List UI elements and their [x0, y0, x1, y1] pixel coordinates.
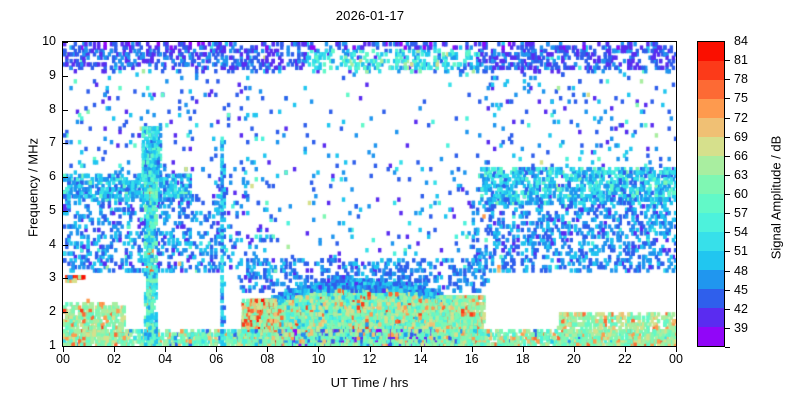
- colorbar-swatch: [698, 308, 724, 327]
- colorbar-tick: [725, 347, 730, 348]
- y-tick: [62, 346, 68, 347]
- colorbar-swatch: [698, 213, 724, 232]
- colorbar-swatch: [698, 270, 724, 289]
- chart-title: 2026-01-17: [0, 8, 740, 23]
- y-tick: [62, 110, 68, 111]
- colorbar-swatch: [698, 175, 724, 194]
- colorbar-tick-label: 54: [734, 225, 764, 239]
- colorbar-tick: [725, 60, 730, 61]
- colorbar-tick: [725, 232, 730, 233]
- colorbar-tick-label: 45: [734, 283, 764, 297]
- colorbar-title: Signal Amplitude / dB: [769, 98, 784, 298]
- y-tick: [62, 76, 68, 77]
- y-tick: [62, 211, 68, 212]
- colorbar-swatch: [698, 156, 724, 175]
- y-tick-label: 9: [26, 68, 56, 82]
- colorbar-tick-label: 57: [734, 206, 764, 220]
- y-tick: [62, 42, 68, 43]
- y-tick: [62, 312, 68, 313]
- colorbar-swatch: [698, 327, 724, 346]
- plot-area: [62, 41, 677, 347]
- colorbar-tick: [725, 98, 730, 99]
- x-tick-label: 18: [503, 352, 543, 366]
- colorbar-swatch: [698, 232, 724, 251]
- colorbar-tick-label: 72: [734, 111, 764, 125]
- colorbar-tick: [725, 290, 730, 291]
- x-tick-label: 08: [247, 352, 287, 366]
- colorbar-swatch: [698, 194, 724, 213]
- x-axis-title: UT Time / hrs: [62, 375, 677, 390]
- colorbar-swatch: [698, 289, 724, 308]
- ionogram-chart: 2026-01-17 00020406081012141618202200 12…: [0, 0, 800, 400]
- x-tick-label: 00: [656, 352, 696, 366]
- x-tick-label: 22: [605, 352, 645, 366]
- colorbar-tick-label: 48: [734, 264, 764, 278]
- y-axis-title: Frequency / MHz: [26, 98, 41, 278]
- y-tick-label: 2: [26, 304, 56, 318]
- colorbar-swatch: [698, 42, 724, 61]
- x-tick-label: 04: [145, 352, 185, 366]
- colorbar-tick-label: 60: [734, 187, 764, 201]
- colorbar-tick: [725, 251, 730, 252]
- colorbar-tick-label: 75: [734, 91, 764, 105]
- colorbar-tick-label: 69: [734, 130, 764, 144]
- colorbar-tick: [725, 213, 730, 214]
- colorbar-tick-label: 78: [734, 72, 764, 86]
- y-tick-label: 10: [26, 34, 56, 48]
- colorbar-tick-label: 81: [734, 53, 764, 67]
- colorbar-tick: [725, 271, 730, 272]
- colorbar-tick-label: 63: [734, 168, 764, 182]
- colorbar-tick-label: 42: [734, 302, 764, 316]
- x-tick-label: 14: [401, 352, 441, 366]
- x-tick-label: 10: [298, 352, 338, 366]
- colorbar-swatch: [698, 61, 724, 80]
- colorbar-tick: [725, 137, 730, 138]
- x-tick-label: 12: [350, 352, 390, 366]
- colorbar-swatch: [698, 118, 724, 137]
- colorbar-tick-label: 84: [734, 34, 764, 48]
- colorbar-tick: [725, 79, 730, 80]
- x-tick-label: 16: [452, 352, 492, 366]
- colorbar: [697, 41, 725, 347]
- colorbar-swatch: [698, 251, 724, 270]
- colorbar-swatch: [698, 137, 724, 156]
- colorbar-tick: [725, 194, 730, 195]
- heatmap-canvas: [63, 42, 676, 346]
- colorbar-tick: [725, 156, 730, 157]
- colorbar-swatch: [698, 99, 724, 118]
- colorbar-tick-label: 51: [734, 244, 764, 258]
- y-tick: [62, 143, 68, 144]
- x-tick-label: 02: [94, 352, 134, 366]
- x-tick-label: 20: [554, 352, 594, 366]
- colorbar-tick: [725, 175, 730, 176]
- colorbar-tick: [725, 309, 730, 310]
- y-tick: [62, 177, 68, 178]
- colorbar-tick-label: 66: [734, 149, 764, 163]
- x-tick-label: 06: [196, 352, 236, 366]
- y-tick: [62, 245, 68, 246]
- colorbar-tick: [725, 118, 730, 119]
- colorbar-tick: [725, 328, 730, 329]
- y-tick-label: 1: [26, 338, 56, 352]
- y-tick: [62, 278, 68, 279]
- colorbar-swatch: [698, 80, 724, 99]
- colorbar-tick-label: 39: [734, 321, 764, 335]
- x-tick-label: 00: [43, 352, 83, 366]
